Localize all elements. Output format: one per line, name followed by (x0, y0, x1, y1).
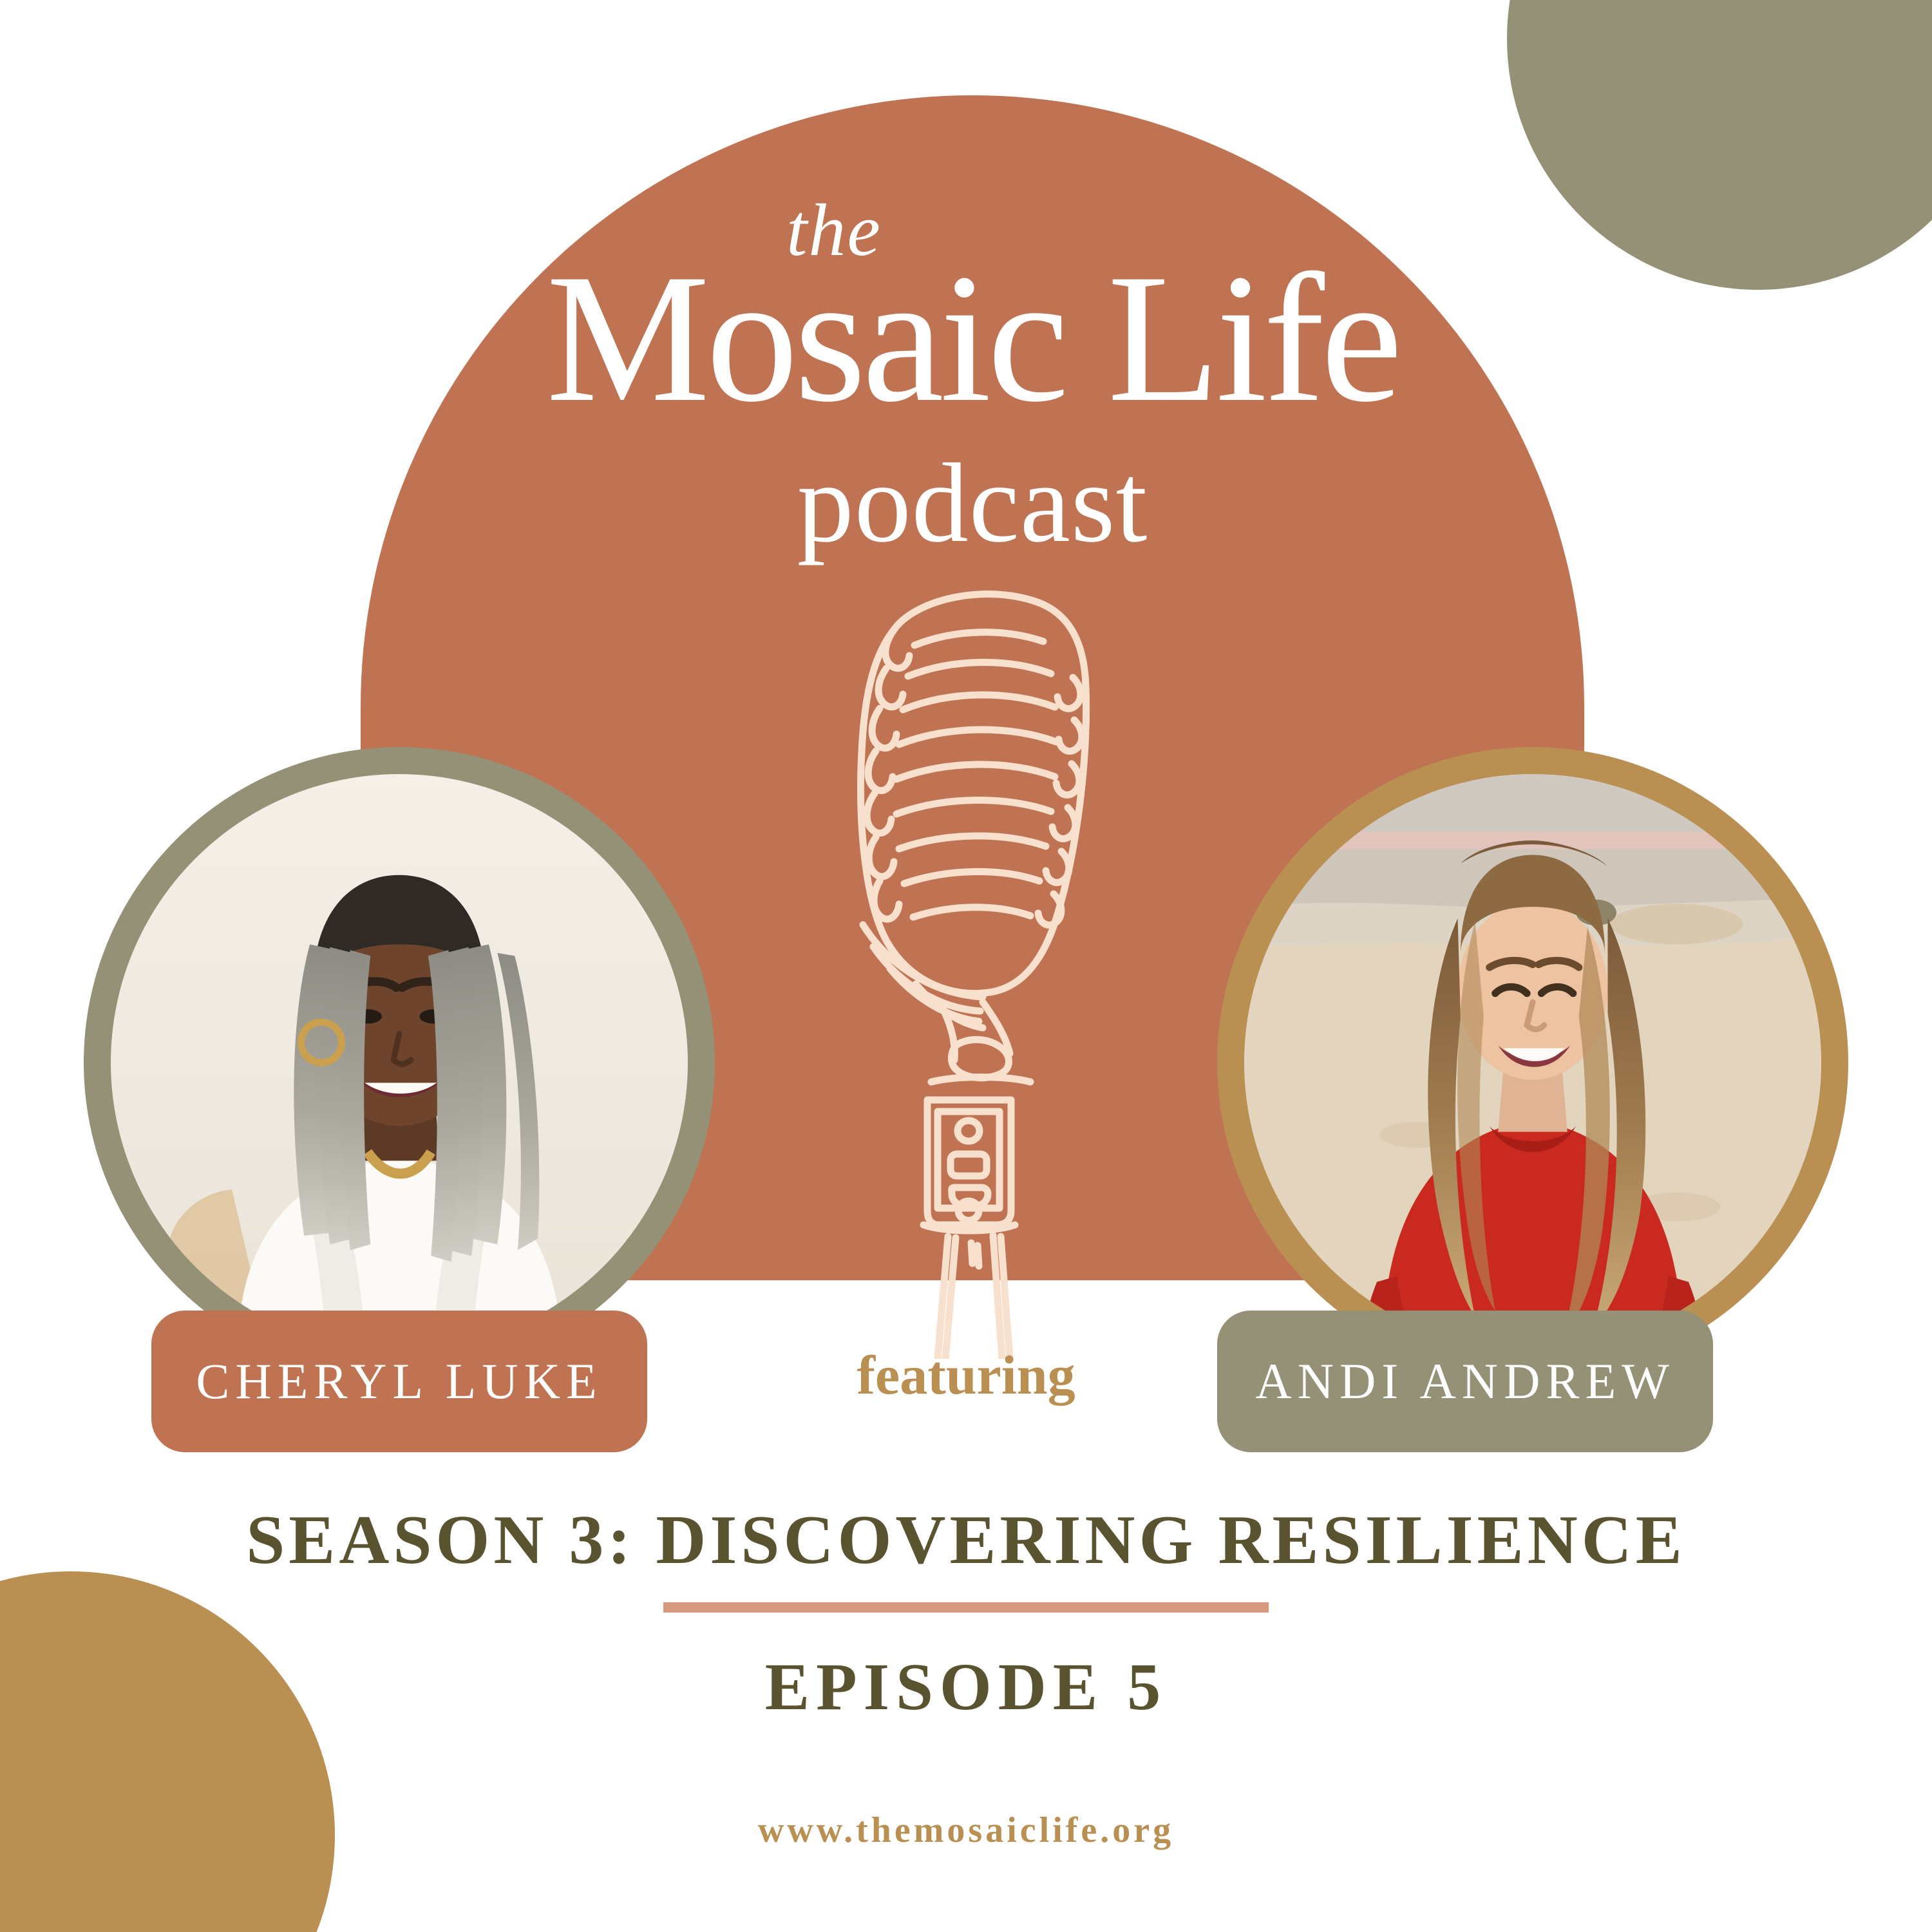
wordmark-podcast: podcast (361, 447, 1584, 560)
host-right (1217, 747, 1848, 1378)
vintage-microphone-icon (818, 567, 1114, 1359)
host-right-nameplate: ANDI ANDREW (1217, 1311, 1713, 1452)
podcast-cover-art: the Mosaic Life podcast CHERYL LUKE ANDI… (0, 0, 1932, 1932)
host-left-name: CHERYL LUKE (196, 1352, 602, 1410)
podcast-wordmark: the Mosaic Life podcast (361, 193, 1584, 560)
host-right-photo (1244, 774, 1821, 1351)
host-left (84, 747, 715, 1378)
host-right-name: ANDI ANDREW (1255, 1352, 1674, 1410)
host-left-photo (111, 774, 688, 1351)
divider-line (663, 1602, 1269, 1613)
featuring-label: featuring (760, 1343, 1172, 1407)
wordmark-title: Mosaic Life (361, 246, 1584, 430)
episode-number: EPISODE 5 (0, 1649, 1932, 1725)
decor-circle-bottom-left (0, 1571, 335, 1932)
season-title: SEASON 3: DISCOVERING RESILIENCE (0, 1501, 1932, 1580)
website-url: www.themosaiclife.org (0, 1810, 1932, 1851)
host-left-nameplate: CHERYL LUKE (151, 1311, 647, 1452)
